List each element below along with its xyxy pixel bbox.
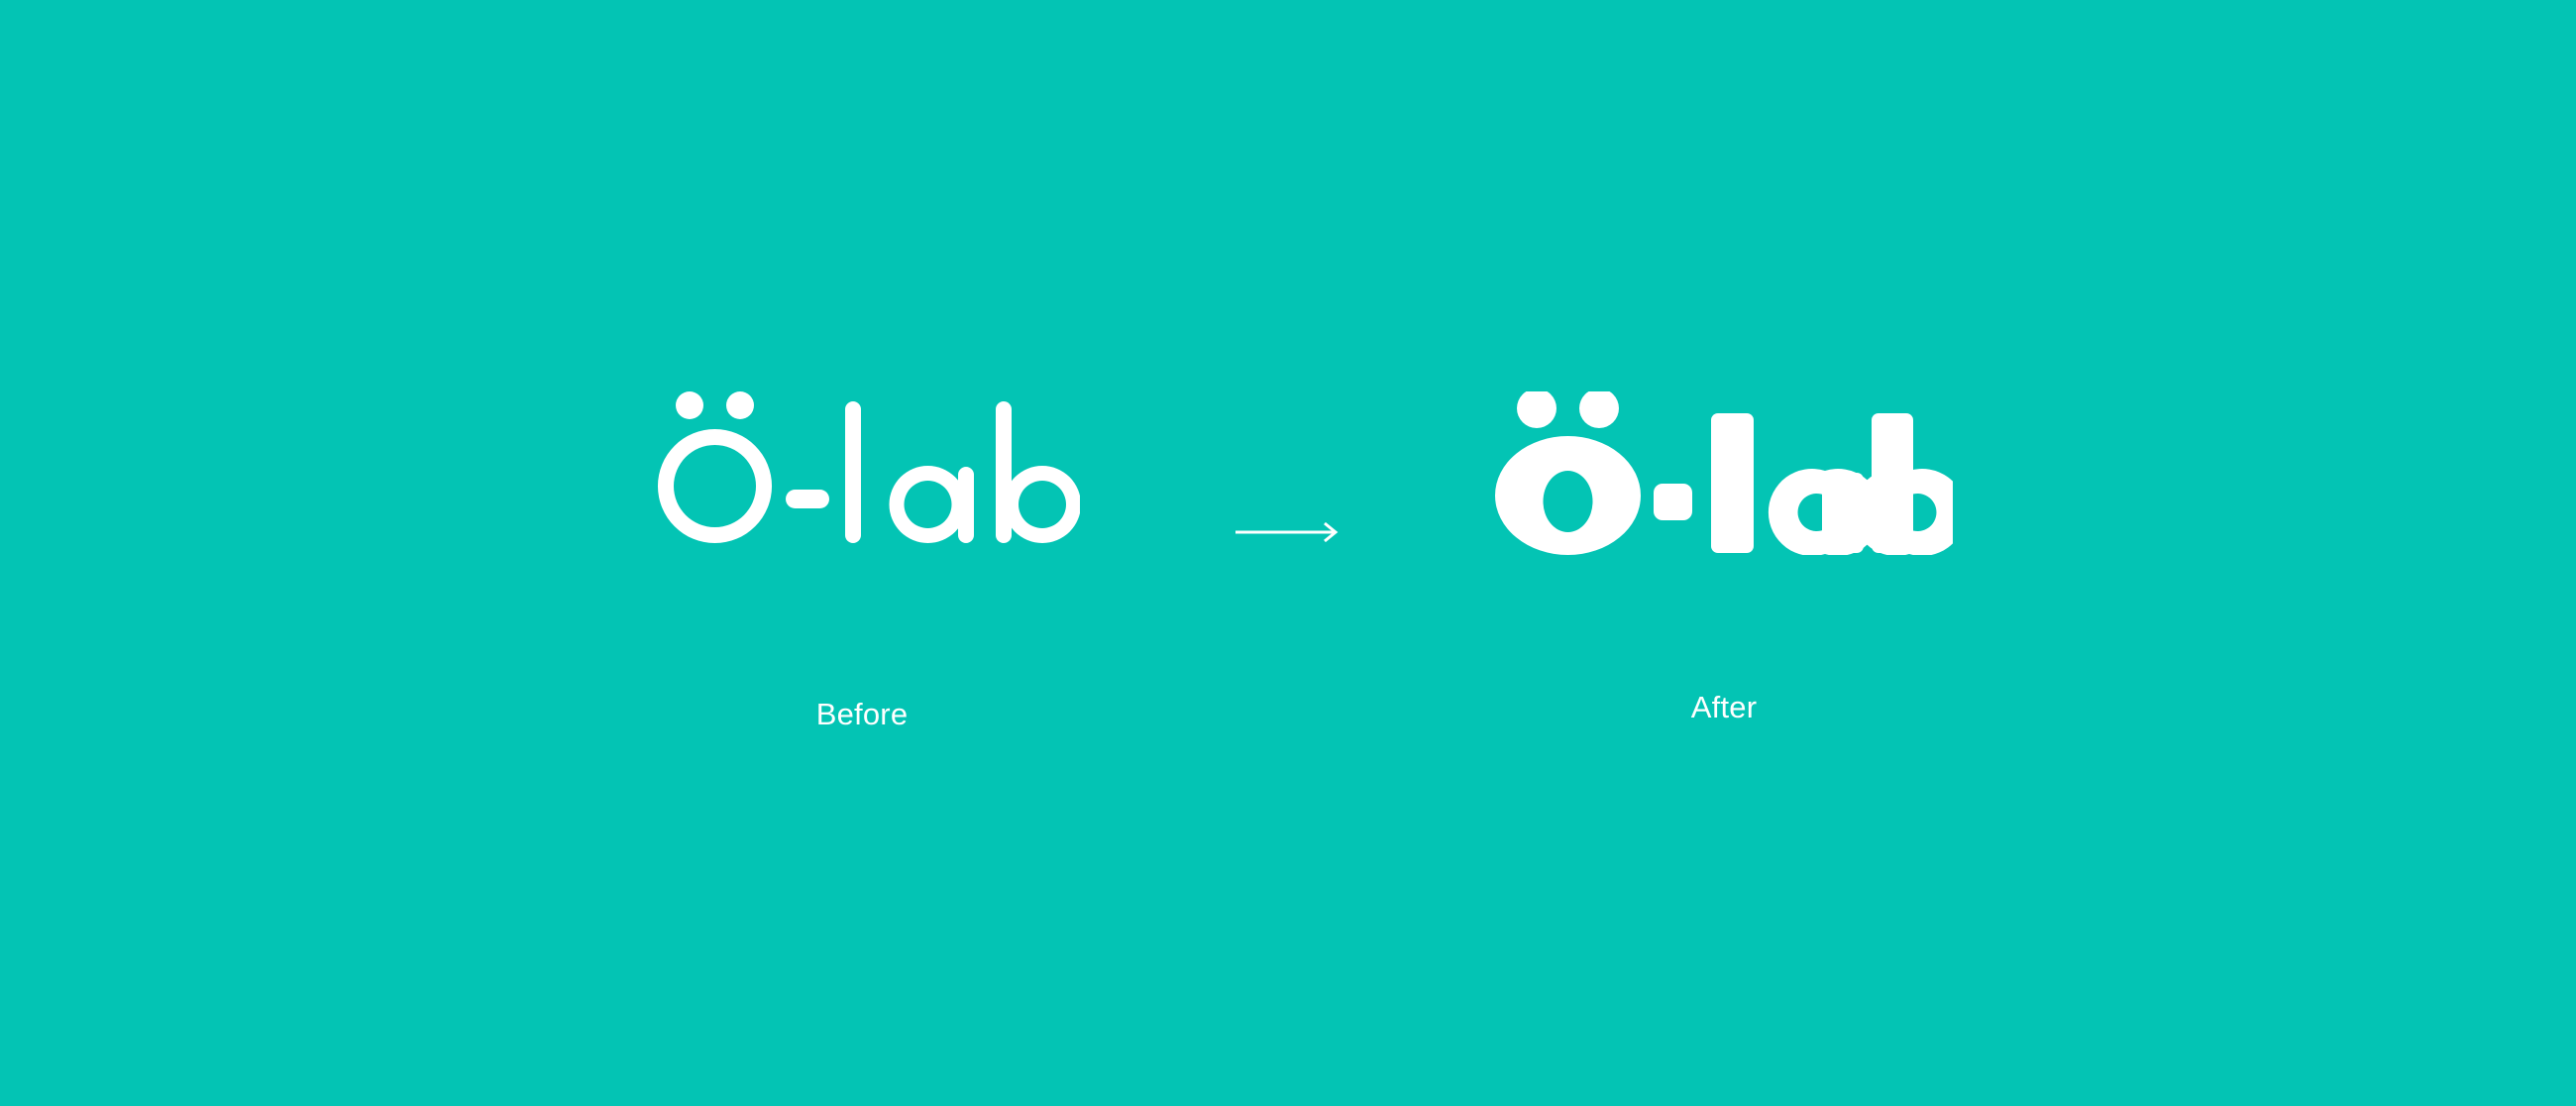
olab-logo-light-icon [644, 391, 1080, 550]
transition-arrow [1234, 517, 1342, 547]
olab-logo-bold-icon [1495, 391, 1953, 555]
caption-before: Before [816, 699, 909, 729]
logo-after [1495, 391, 1953, 555]
right-arrow-icon [1234, 517, 1342, 547]
caption-after: After [1691, 692, 1757, 722]
comparison-canvas: Before [0, 0, 2576, 1106]
logo-before [644, 391, 1080, 550]
before-after-comparison: Before [0, 0, 2576, 1106]
variant-after: After [1486, 391, 1962, 722]
variant-before: Before [634, 391, 1090, 729]
